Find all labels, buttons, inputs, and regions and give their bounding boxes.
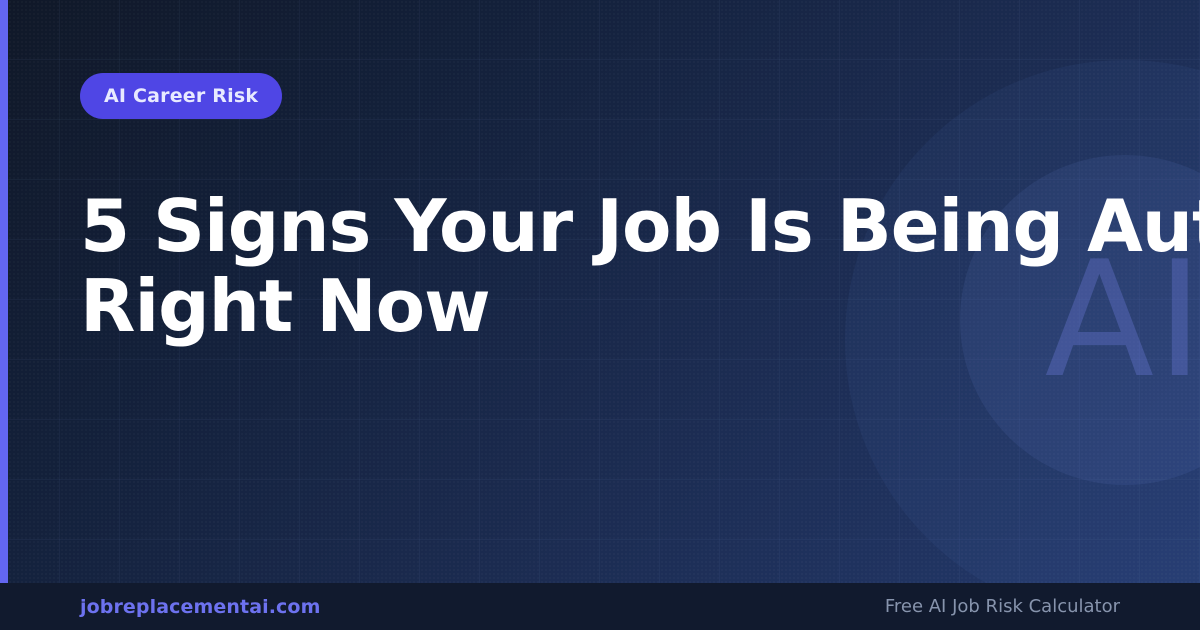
og-card: AI AI Career Risk 5 Signs Your Job Is Be… [0,0,1200,630]
category-badge-label: AI Career Risk [104,85,258,107]
left-accent-bar [0,0,8,583]
page-title-line-1: 5 Signs Your Job Is Being Automated [80,186,1200,266]
card-content: AI Career Risk 5 Signs Your Job Is Being… [80,0,1200,583]
category-badge: AI Career Risk [80,73,282,119]
card-footer: jobreplacementai.com Free AI Job Risk Ca… [0,583,1200,630]
footer-domain-label: jobreplacementai.com [80,596,320,618]
page-title-line-2: Right Now [80,266,1200,346]
page-title: 5 Signs Your Job Is Being Automated Righ… [80,186,1200,346]
footer-tagline-label: Free AI Job Risk Calculator [885,596,1120,617]
